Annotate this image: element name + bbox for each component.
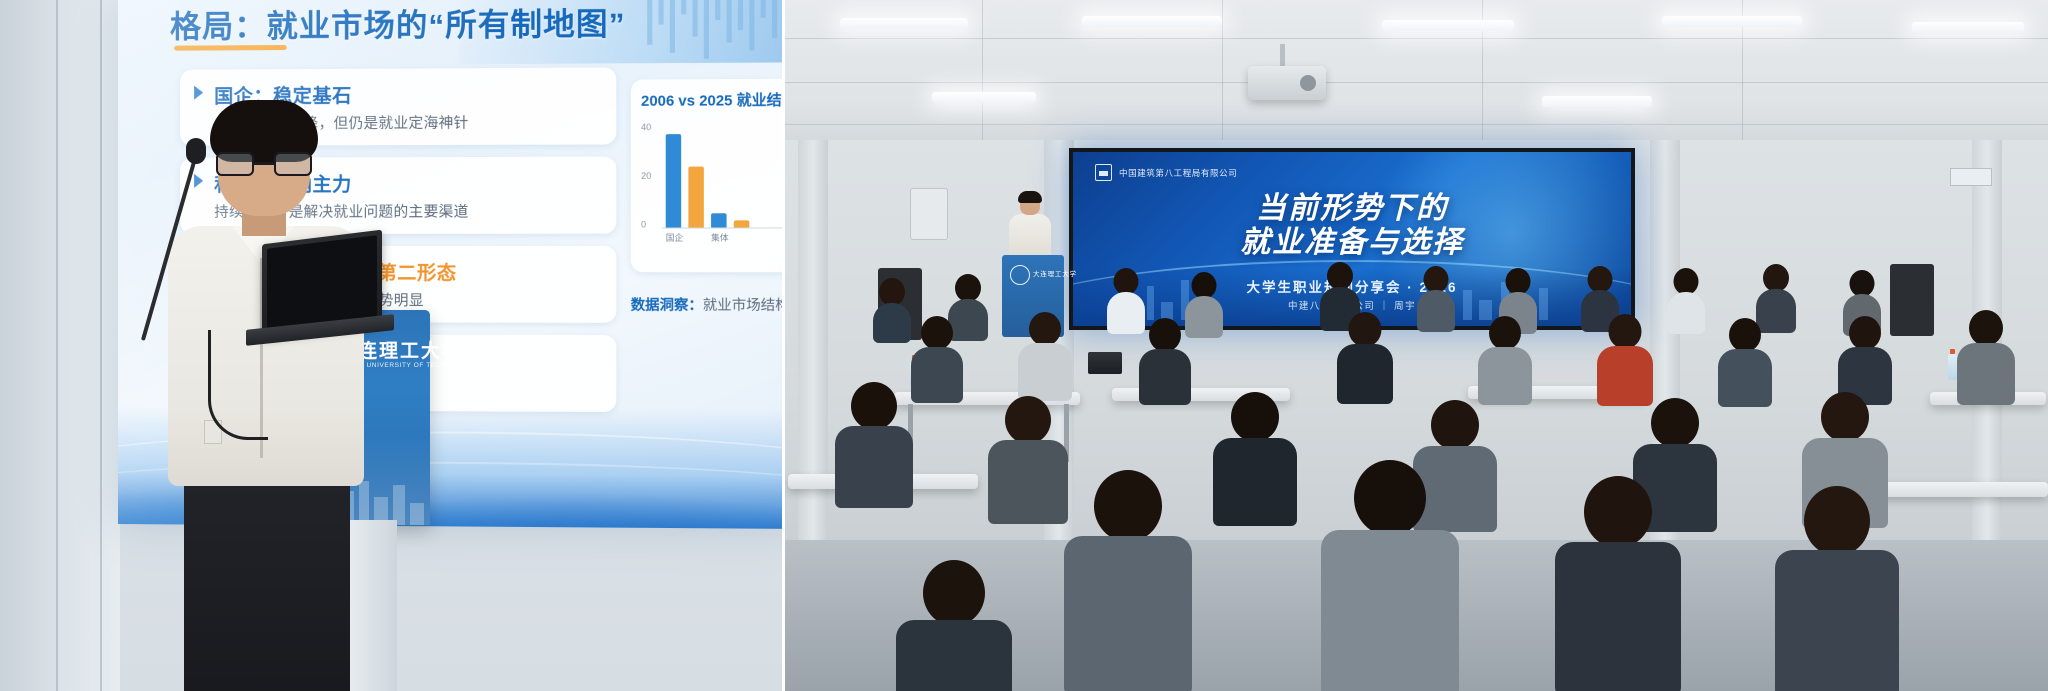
student-head: [1431, 400, 1479, 450]
x-tick-label: 集体: [711, 232, 726, 244]
student-torso: [1337, 344, 1393, 404]
y-tick-label: 0: [641, 219, 646, 229]
exit-sign: [1950, 168, 1992, 186]
student-head: [1506, 268, 1531, 295]
ceiling-light: [1662, 16, 1802, 27]
student-torso: [1064, 536, 1192, 691]
ceiling-grid-line: [782, 82, 2048, 83]
student-head: [1114, 268, 1139, 295]
title-underline: [174, 45, 287, 51]
student-torso: [1667, 292, 1705, 334]
student-torso: [1139, 349, 1191, 405]
university-seal-icon: [1010, 265, 1030, 285]
student-head: [1005, 396, 1051, 444]
company-logo-text: 中国建筑第八工程局有限公司: [1119, 167, 1237, 179]
slide-insight: 数据洞察：就业市场结构持续演变: [631, 294, 782, 315]
wall-panel: [0, 0, 120, 691]
student-torso: [1597, 346, 1653, 406]
audience-member: [1342, 312, 1388, 398]
student-laptop: [1088, 352, 1122, 374]
student-torso: [1555, 542, 1681, 691]
student-head: [1094, 470, 1162, 542]
student-desk: [1872, 482, 2048, 497]
student-head: [1729, 318, 1761, 352]
photo-divider: [782, 0, 785, 691]
student-head: [923, 560, 985, 626]
student-head: [1674, 268, 1699, 295]
student-head: [1804, 486, 1870, 556]
audience-member-foreground: [1082, 470, 1174, 691]
student-torso: [1775, 550, 1899, 691]
chart-bars: [666, 130, 782, 228]
audience-member: [1482, 316, 1528, 400]
student-torso: [1321, 530, 1459, 691]
audience-member: [1022, 312, 1068, 396]
student-torso: [1185, 296, 1223, 338]
wall-seam: [56, 0, 58, 691]
wall-seam: [100, 0, 102, 691]
audience-member-foreground: [1572, 476, 1664, 691]
audience-member: [874, 278, 910, 340]
bar-2006-jiti: [711, 213, 726, 227]
wall-column: [798, 140, 828, 570]
ceiling-grid-line: [782, 124, 2048, 125]
student-head: [955, 274, 981, 302]
presenter-at-front: [1008, 193, 1052, 263]
student-torso: [1417, 290, 1455, 332]
screen-title-line2: 就业准备与选择: [1073, 226, 1631, 260]
student-torso: [1957, 343, 2015, 405]
presenter-hair: [1018, 191, 1042, 203]
speaker-trousers: [184, 462, 350, 691]
company-logo-icon: [1095, 164, 1112, 181]
audience-member: [1222, 392, 1288, 516]
x-tick-spacer: [688, 232, 703, 244]
chart-title: 2006 vs 2025 就业结构对比: [641, 89, 782, 111]
student-torso: [1107, 292, 1145, 334]
student-torso: [873, 303, 911, 343]
student-head: [1584, 476, 1652, 548]
student-head: [879, 278, 905, 306]
screen-title: 当前形势下的 就业准备与选择: [1073, 192, 1631, 260]
audience-member: [1142, 318, 1188, 400]
student-head: [851, 382, 897, 430]
audience-member: [1722, 318, 1768, 402]
student-head: [1609, 314, 1642, 349]
student-head: [1821, 392, 1869, 442]
ceiling-grid-line: [782, 38, 2048, 39]
audience-member: [1842, 316, 1888, 400]
audience-member-foreground: [912, 560, 996, 691]
y-tick-label: 40: [641, 122, 651, 132]
screen-company-logo: 中国建筑第八工程局有限公司: [1095, 164, 1237, 181]
water-bottle: [1948, 354, 1957, 380]
student-torso: [1018, 343, 1072, 401]
audience-member: [1418, 266, 1454, 330]
student-head: [1651, 398, 1699, 448]
student-head: [1763, 264, 1789, 292]
ceiling-light: [840, 18, 968, 29]
ceiling-light: [1542, 96, 1652, 107]
student-head: [1327, 262, 1353, 290]
student-head: [1969, 310, 2003, 346]
ceiling-light: [1382, 20, 1514, 31]
audience-member: [1602, 314, 1648, 400]
left-photo-speaker-at-lectern: 格局：就业市场的“所有制地图” 国企：稳定基石 占比虽持续下降，但仍是就业定海神…: [0, 0, 782, 691]
student-head: [1424, 266, 1449, 293]
audience-member: [1668, 268, 1704, 332]
audience-member: [914, 316, 960, 398]
ceiling-grid-line: [982, 0, 983, 150]
student-head: [1849, 316, 1881, 350]
audience-member-foreground: [1342, 460, 1438, 691]
screen-title-line1: 当前形势下的: [1073, 192, 1631, 226]
student-head: [1588, 266, 1613, 293]
front-lectern-name: 大连理工大学: [1033, 268, 1077, 278]
x-axis: [662, 227, 782, 228]
ceiling-light: [1082, 16, 1222, 27]
chart-plot-area: 40 20 0 国企 集体: [641, 122, 782, 242]
audience-member: [842, 382, 906, 500]
right-photo-classroom-audience: 中国建筑第八工程局有限公司 当前形势下的 就业准备与选择 大学生职业规划分享会 …: [782, 0, 2048, 691]
y-tick-label: 20: [641, 171, 651, 181]
ceiling-light: [1912, 22, 2024, 33]
student-torso: [835, 426, 913, 508]
ceiling-light: [932, 92, 1036, 103]
wall-control-panel[interactable]: [910, 188, 948, 240]
student-head: [1489, 316, 1521, 350]
student-head: [1354, 460, 1426, 536]
x-tick-label: 国企: [666, 232, 681, 244]
audience-member: [1962, 310, 2010, 398]
ceiling-grid-line: [1222, 0, 1223, 150]
audience-member: [1108, 268, 1144, 332]
insight-label: 数据洞察：: [631, 297, 703, 313]
student-head: [1149, 318, 1181, 352]
student-head: [1029, 312, 1061, 346]
bar-2025-guoqi: [688, 167, 703, 228]
student-torso: [1718, 349, 1772, 407]
ceiling-projector: [1248, 66, 1326, 100]
audience-member: [1186, 272, 1222, 336]
cable: [208, 330, 268, 440]
student-head: [921, 316, 953, 350]
wall-speaker: [1890, 264, 1934, 336]
microphone-icon: [186, 138, 206, 164]
student-torso: [896, 620, 1012, 691]
x-tick-labels: 国企 集体: [666, 231, 782, 243]
student-torso: [911, 347, 963, 403]
eyeglasses-icon: [216, 152, 312, 176]
speaker-person: [160, 90, 390, 691]
student-head: [1850, 270, 1875, 297]
audience-member-foreground: [1792, 486, 1882, 691]
slide-title: 格局：就业市场的“所有制地图”: [170, 0, 781, 47]
projector-mount: [1280, 44, 1285, 68]
audience-member: [996, 396, 1060, 516]
x-tick-spacer: [734, 232, 750, 244]
student-head: [1192, 272, 1217, 299]
student-torso: [988, 440, 1068, 524]
insight-text: 就业市场结构持续演变: [703, 297, 782, 313]
composite-image: 格局：就业市场的“所有制地图” 国企：稳定基石 占比虽持续下降，但仍是就业定海神…: [0, 0, 2048, 691]
bar-2006-guoqi: [666, 134, 681, 227]
student-torso: [1478, 347, 1532, 405]
student-head: [1349, 312, 1382, 347]
slide-bar-chart: 2006 vs 2025 就业结构对比 40 20 0 国企: [631, 79, 782, 273]
bar-2025-jiti: [734, 220, 750, 227]
student-torso: [1213, 438, 1297, 526]
student-head: [1231, 392, 1279, 442]
